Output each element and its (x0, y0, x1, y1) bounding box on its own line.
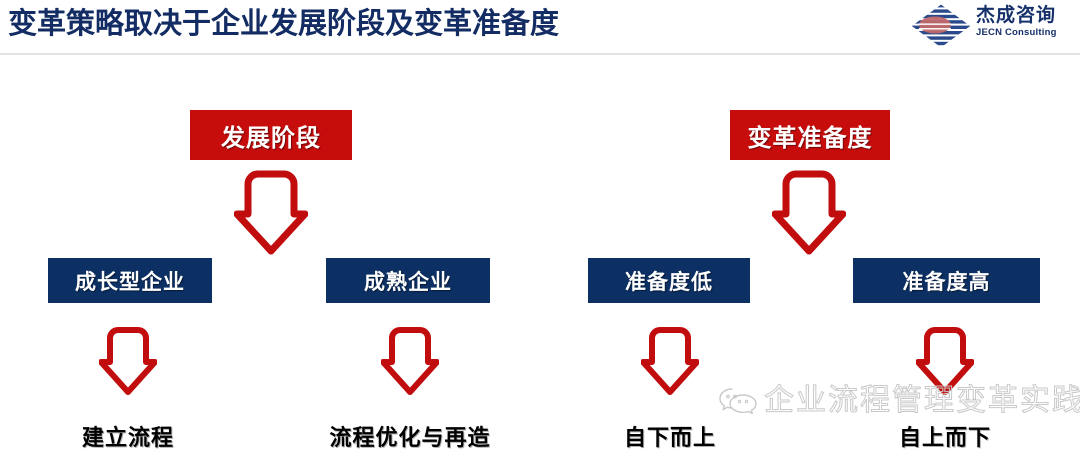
node-development-stage[interactable]: 发展阶段 (190, 110, 352, 160)
node-low-readiness[interactable]: 准备度低 (588, 258, 750, 303)
arrow-down-growth-company (99, 326, 157, 396)
node-high-readiness[interactable]: 准备度高 (853, 258, 1040, 303)
header-divider (0, 53, 1080, 55)
leaf-process-optimization: 流程优化与再造 (300, 420, 520, 452)
arrow-down-low-readiness (641, 326, 699, 396)
slide-header: 变革策略取决于企业发展阶段及变革准备度 (0, 0, 1080, 54)
page-title: 变革策略取决于企业发展阶段及变革准备度 (8, 4, 559, 44)
node-growth-company[interactable]: 成长型企业 (48, 258, 212, 303)
node-change-readiness[interactable]: 变革准备度 (730, 110, 890, 160)
logo-text-block: 杰成咨询 JECN Consulting (976, 5, 1076, 39)
leaf-establish-process: 建立流程 (28, 420, 228, 452)
leaf-top-down: 自上而下 (845, 420, 1045, 452)
logo-diamond-icon (910, 3, 972, 49)
arrow-down-mature-company (381, 326, 439, 396)
arrow-down-high-readiness (916, 326, 974, 396)
logo-english-name: JECN Consulting (976, 27, 1076, 39)
node-mature-company[interactable]: 成熟企业 (326, 258, 490, 303)
slide-canvas: 变革策略取决于企业发展阶段及变革准备度 (0, 0, 1080, 457)
arrow-down-change-readiness (772, 170, 846, 256)
leaf-bottom-up: 自下而上 (570, 420, 770, 452)
logo-chinese-name: 杰成咨询 (976, 5, 1076, 27)
arrow-down-development-stage (234, 170, 308, 256)
wechat-watermark: 企业流程管理变革实践 (718, 380, 1080, 422)
brand-logo: 杰成咨询 JECN Consulting (906, 2, 1076, 50)
wechat-icon (718, 386, 758, 416)
